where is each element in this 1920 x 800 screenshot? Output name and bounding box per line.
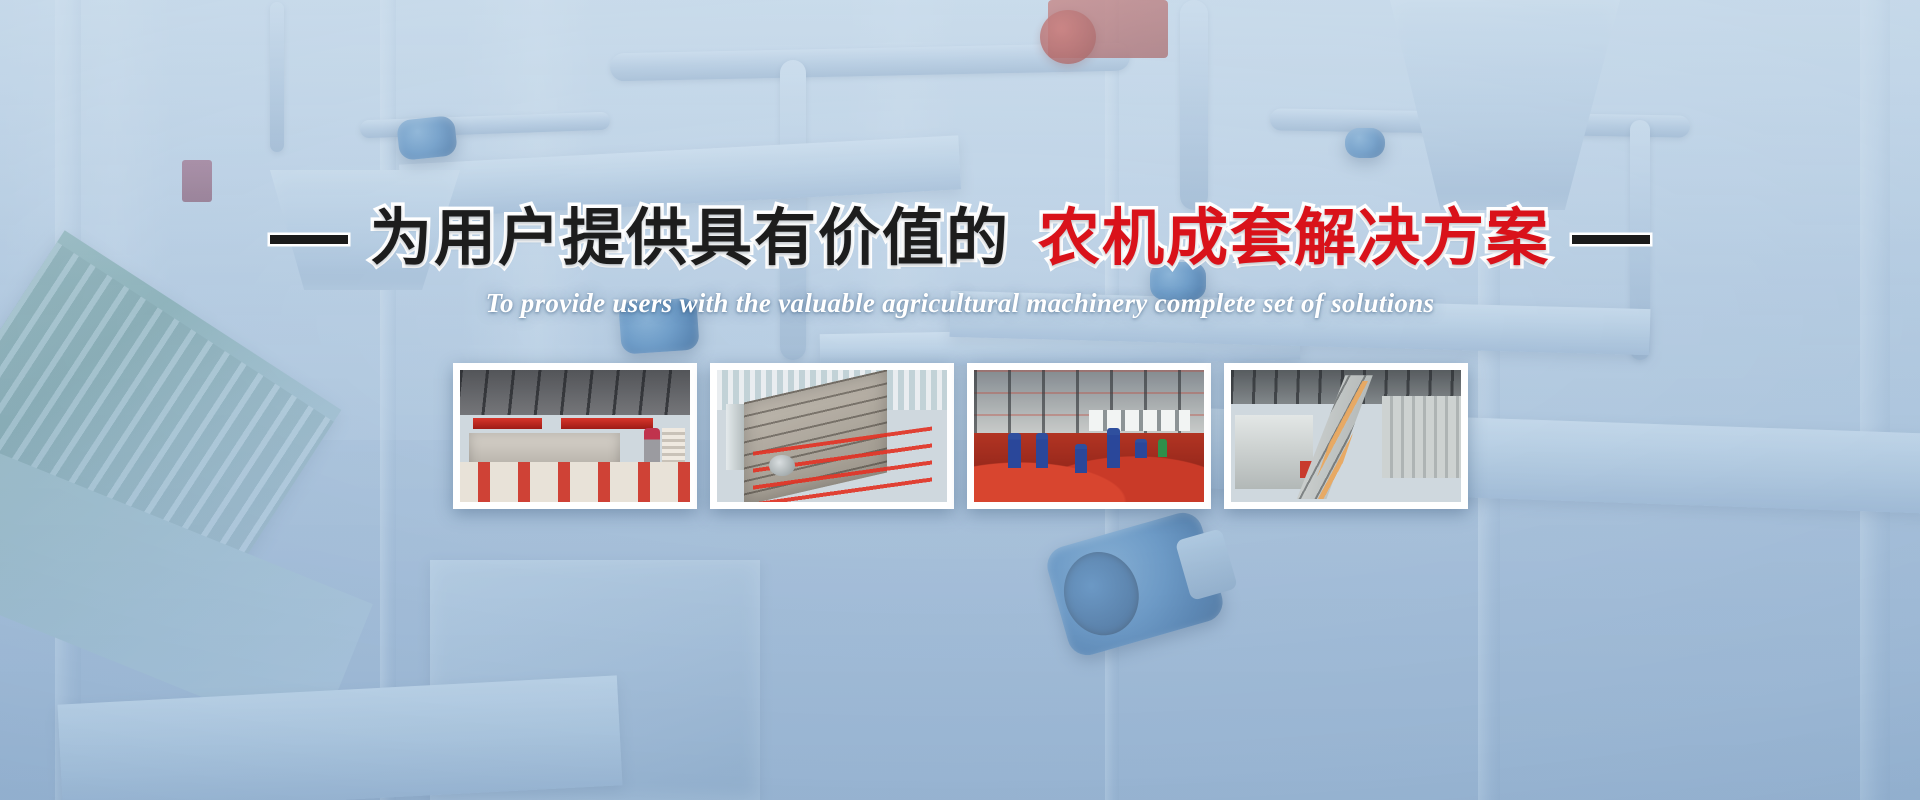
worker [1158, 439, 1167, 457]
warehouse-windows [1089, 410, 1190, 431]
worker [1075, 444, 1088, 473]
banner-content: 为用户提供具有价值的 农机成套解决方案 To provide users wit… [0, 0, 1920, 800]
red-banner [473, 418, 542, 429]
thumbnail-image [460, 370, 690, 502]
drive-motor [769, 455, 794, 476]
worker [1107, 428, 1120, 468]
headline-red-text: 农机成套解决方案 [1038, 208, 1550, 270]
roof-truss [460, 370, 690, 415]
right-rule-decoration [1572, 235, 1650, 244]
thumbnail-image [974, 370, 1204, 502]
banner-subtitle: To provide users with the valuable agric… [486, 288, 1435, 319]
thumbnail-workers-raking-red-chili-in-warehouse[interactable] [967, 363, 1211, 509]
worker [1008, 433, 1021, 467]
corrugated-wall [1382, 396, 1460, 478]
worker [1135, 439, 1148, 459]
red-banner [561, 418, 653, 429]
thumbnail-inclined-conveyor-with-produce[interactable] [1224, 363, 1468, 509]
thumbnail-belt-dryer-conveyor-with-red-berries[interactable] [710, 363, 954, 509]
thumbnail-goji-berry-drying-trays-hall[interactable] [453, 363, 697, 509]
thumbnail-image [717, 370, 947, 502]
headline-row: 为用户提供具有价值的 农机成套解决方案 [270, 208, 1650, 270]
worker [1036, 433, 1049, 467]
thumbnail-strip [453, 363, 1468, 509]
drying-trays [460, 462, 690, 502]
thumbnail-image [1231, 370, 1461, 502]
left-rule-decoration [270, 235, 348, 244]
headline-dark-text: 为用户提供具有价值的 [370, 208, 1010, 270]
hero-banner: 为用户提供具有价值的 农机成套解决方案 To provide users wit… [0, 0, 1920, 800]
